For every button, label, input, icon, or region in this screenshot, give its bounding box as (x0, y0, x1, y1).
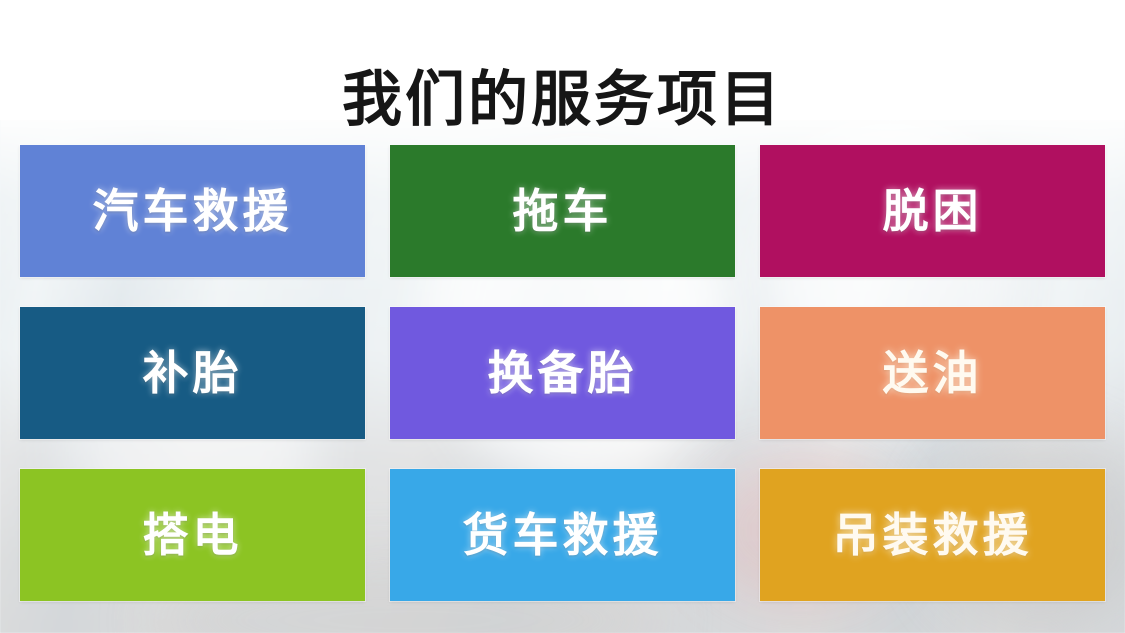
service-tile-label: 送油 (883, 350, 983, 396)
service-tile-car-rescue[interactable]: 汽车救援 (20, 145, 365, 277)
service-tile-tire-repair[interactable]: 补胎 (20, 307, 365, 439)
service-tile-label: 货车救援 (463, 512, 663, 558)
service-tile-label: 换备胎 (488, 350, 638, 396)
service-grid: 汽车救援拖车脱困补胎换备胎送油搭电货车救援吊装救援 (20, 145, 1105, 601)
service-tile-label: 脱困 (883, 188, 983, 234)
service-tile-spare-tire-change[interactable]: 换备胎 (390, 307, 735, 439)
service-poster: 我们的服务项目 汽车救援拖车脱困补胎换备胎送油搭电货车救援吊装救援 (0, 0, 1125, 633)
page-title: 我们的服务项目 (0, 62, 1125, 138)
service-tile-towing[interactable]: 拖车 (390, 145, 735, 277)
service-tile-label: 拖车 (513, 188, 613, 234)
service-tile-crane-lifting-rescue[interactable]: 吊装救援 (760, 469, 1105, 601)
service-tile-label: 补胎 (143, 350, 243, 396)
service-tile-extrication[interactable]: 脱困 (760, 145, 1105, 277)
service-tile-label: 吊装救援 (833, 512, 1033, 558)
service-tile-jump-start[interactable]: 搭电 (20, 469, 365, 601)
service-tile-label: 搭电 (143, 512, 243, 558)
service-tile-fuel-delivery[interactable]: 送油 (760, 307, 1105, 439)
service-tile-truck-rescue[interactable]: 货车救援 (390, 469, 735, 601)
service-tile-label: 汽车救援 (93, 188, 293, 234)
